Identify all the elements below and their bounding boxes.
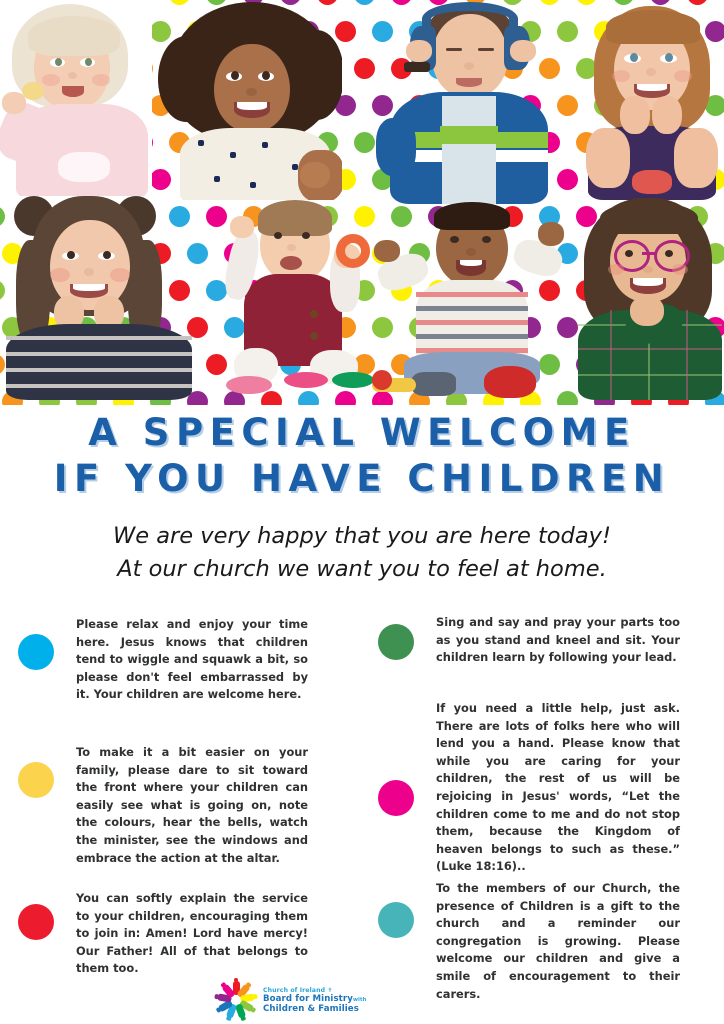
photo-toddler-blonde-flower — [0, 0, 152, 196]
point-text-relax: Please relax and enjoy your time here. J… — [76, 616, 308, 704]
organisation-logo: Church of Ireland ✝ Board for Ministrywi… — [215, 978, 515, 1022]
point-item-need-help: If you need a little help, just ask. The… — [378, 700, 714, 876]
logo-board-label: Board for Ministry — [263, 994, 353, 1004]
points-columns: Please relax and enjoy your time here. J… — [0, 612, 724, 1012]
photo-girl-curly-hair — [152, 0, 342, 200]
point-item-relax: Please relax and enjoy your time here. J… — [18, 616, 350, 704]
logo-line-children-families: Children & Families — [263, 1005, 367, 1014]
point-item-sing-pray: Sing and say and pray your parts too as … — [378, 614, 714, 667]
photo-baby-red-pinafore — [214, 200, 374, 400]
photo-girl-glasses-plaid — [574, 198, 724, 400]
photo-baby-striped-red-shoes — [372, 200, 572, 400]
bullet-yellow — [18, 762, 54, 798]
bullet-teal — [378, 902, 414, 938]
poster-page: A SPECIAL WELCOME IF YOU HAVE CHILDREN W… — [0, 0, 724, 1024]
bullet-red — [18, 904, 54, 940]
photo-collage — [0, 0, 724, 405]
bullet-green — [378, 624, 414, 660]
point-item-sit-front: To make it a bit easier on your family, … — [18, 744, 350, 867]
circle-of-people-logo-mark — [215, 979, 257, 1021]
point-item-explain-service: You can softly explain the service to yo… — [18, 890, 350, 978]
headings-block: A SPECIAL WELCOME IF YOU HAVE CHILDREN W… — [0, 410, 724, 586]
photo-boy-headphones — [376, 0, 562, 204]
photo-girl-pigtails-striped — [6, 196, 192, 400]
bullet-magenta — [378, 780, 414, 816]
logo-with-label: with — [353, 997, 367, 1003]
bullet-blue — [18, 634, 54, 670]
subtitle-line2: At our church we want you to feel at hom… — [0, 553, 724, 586]
page-title-line2: IF YOU HAVE CHILDREN — [0, 456, 724, 502]
point-text-need-help: If you need a little help, just ask. The… — [436, 700, 680, 876]
subtitle-line1: We are very happy that you are here toda… — [0, 520, 724, 553]
point-text-sing-pray: Sing and say and pray your parts too as … — [436, 614, 680, 667]
subtitle: We are very happy that you are here toda… — [0, 520, 724, 586]
point-text-explain-service: You can softly explain the service to yo… — [76, 890, 308, 978]
photo-girl-hands-on-chin — [578, 0, 724, 200]
point-text-sit-front: To make it a bit easier on your family, … — [76, 744, 308, 867]
collage-photos — [0, 0, 724, 405]
page-title-line1: A SPECIAL WELCOME — [0, 410, 724, 456]
logo-text: Church of Ireland ✝ Board for Ministrywi… — [263, 987, 367, 1014]
